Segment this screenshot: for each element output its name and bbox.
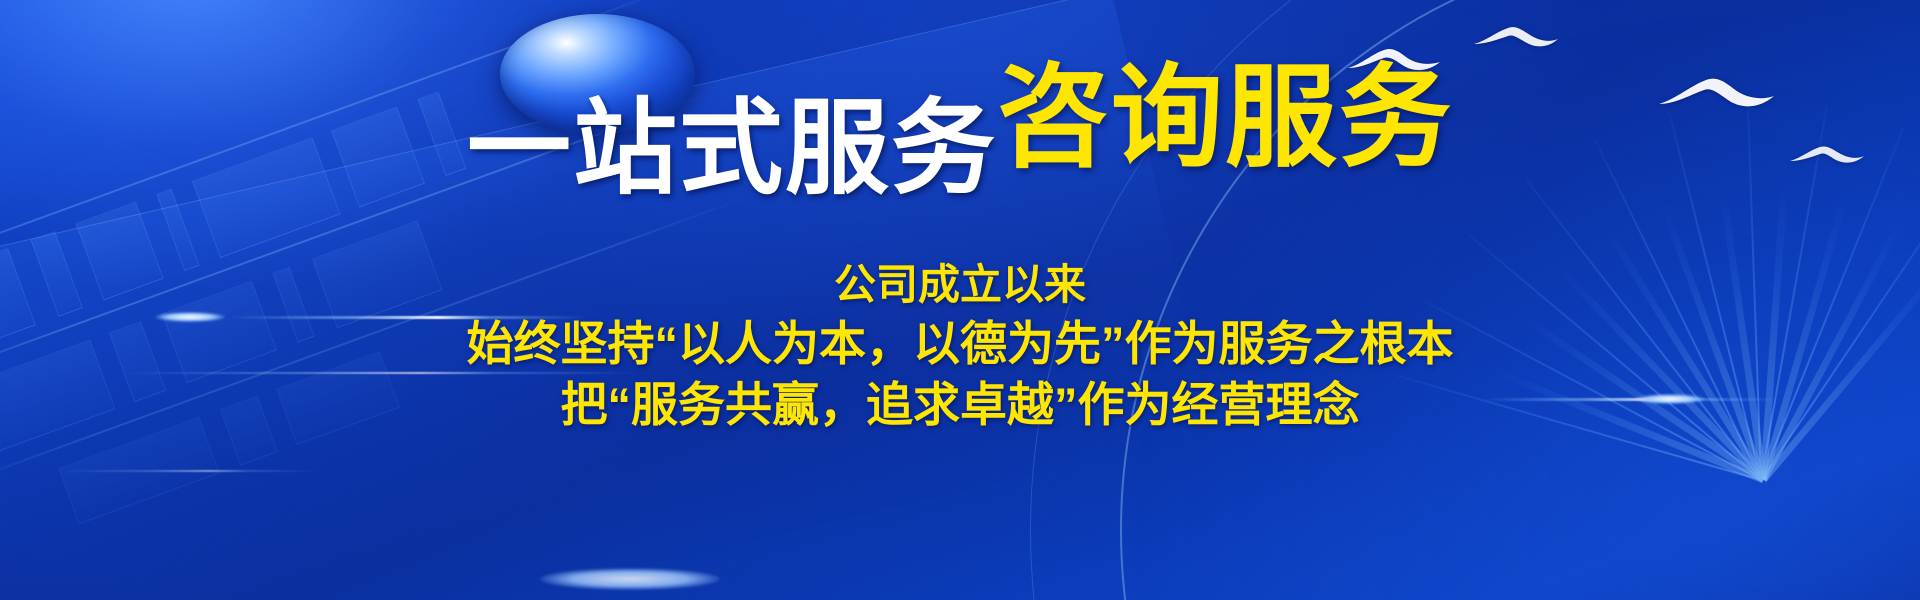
promo-banner: 一站式服务咨询服务 公司成立以来 始终坚持“以人为本，以德为先”作为服务之根本 … bbox=[0, 0, 1920, 600]
banner-headline: 一站式服务咨询服务 bbox=[0, 78, 1920, 190]
subtitle-line-2: 始终坚持“以人为本，以德为先”作为服务之根本 bbox=[0, 313, 1920, 374]
subtitle-line-1: 公司成立以来 bbox=[0, 258, 1920, 313]
subtitle-line-3: 把“服务共赢，追求卓越”作为经营理念 bbox=[0, 374, 1920, 435]
bird-icon bbox=[1472, 22, 1560, 52]
headline-white-text: 一站式服务 bbox=[467, 91, 997, 207]
headline-yellow-text: 咨询服务 bbox=[997, 55, 1453, 180]
light-streak-decoration bbox=[60, 470, 320, 472]
banner-subtitle: 公司成立以来 始终坚持“以人为本，以德为先”作为服务之根本 把“服务共赢，追求卓… bbox=[0, 258, 1920, 435]
glow-dot-decoration bbox=[540, 568, 720, 590]
